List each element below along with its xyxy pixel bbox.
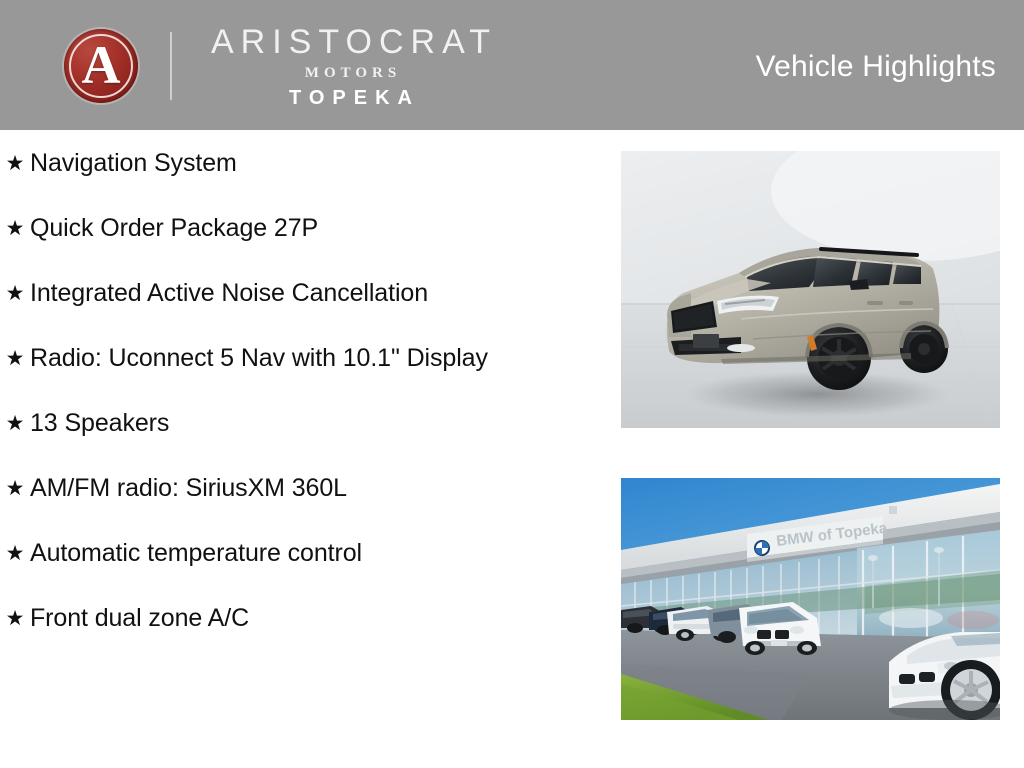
header-bar: A ARISTOCRAT MOTORS TOPEKA Vehicle Highl… [0, 0, 1024, 130]
brand-name: ARISTOCRAT [204, 25, 497, 59]
star-icon: ★ [0, 146, 30, 180]
star-icon: ★ [0, 536, 30, 570]
list-item: ★ Radio: Uconnect 5 Nav with 10.1" Displ… [0, 341, 600, 375]
list-item-label: Automatic temperature control [30, 536, 600, 570]
star-icon: ★ [0, 211, 30, 245]
list-item-label: 13 Speakers [30, 406, 600, 440]
emblem-letter: A [64, 29, 138, 103]
list-item: ★ 13 Speakers [0, 406, 600, 440]
dealership-photo-graphic: BMW of Topeka [621, 478, 1000, 720]
list-item: ★ AM/FM radio: SiriusXM 360L [0, 471, 600, 505]
list-item-label: AM/FM radio: SiriusXM 360L [30, 471, 600, 505]
vehicle-highlights-list: ★ Navigation System ★ Quick Order Packag… [0, 146, 600, 635]
star-icon: ★ [0, 341, 30, 375]
brand-lockup: A ARISTOCRAT MOTORS TOPEKA [64, 30, 497, 102]
page-title: Vehicle Highlights [756, 50, 996, 84]
brand-city: TOPEKA [281, 88, 420, 108]
star-icon: ★ [0, 601, 30, 635]
list-item-label: Front dual zone A/C [30, 601, 600, 635]
dealership-photo: BMW of Topeka [621, 478, 1000, 720]
list-item: ★ Front dual zone A/C [0, 601, 600, 635]
list-item: ★ Integrated Active Noise Cancellation [0, 276, 600, 310]
list-item: ★ Quick Order Package 27P [0, 211, 600, 245]
star-icon: ★ [0, 276, 30, 310]
list-item-label: Navigation System [30, 146, 600, 180]
list-item-label: Quick Order Package 27P [30, 211, 600, 245]
brand-category: MOTORS [300, 66, 401, 81]
star-icon: ★ [0, 471, 30, 505]
vehicle-photo-graphic [621, 151, 1000, 428]
brand-divider [170, 32, 172, 100]
list-item: ★ Navigation System [0, 146, 600, 180]
list-item-label: Integrated Active Noise Cancellation [30, 276, 600, 310]
list-item-label: Radio: Uconnect 5 Nav with 10.1" Display [30, 341, 600, 375]
aristocrat-emblem-icon: A [64, 29, 138, 103]
vehicle-photo [621, 151, 1000, 428]
brand-wordmark: ARISTOCRAT MOTORS TOPEKA [204, 25, 497, 108]
list-item: ★ Automatic temperature control [0, 536, 600, 570]
star-icon: ★ [0, 406, 30, 440]
